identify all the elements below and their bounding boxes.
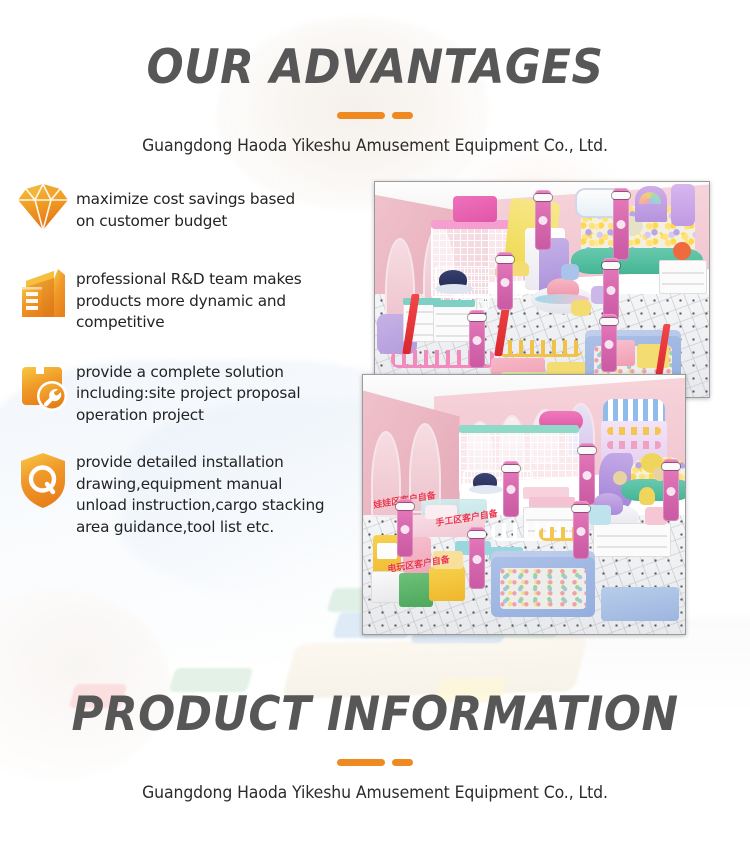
- diamond-icon: [14, 181, 76, 241]
- advantages-list: maximize cost savings based on customer …: [14, 181, 386, 562]
- shield-quality-icon: [14, 450, 76, 510]
- building-growth-icon: [14, 265, 76, 325]
- advantage-item-cost-savings: maximize cost savings based on customer …: [14, 181, 386, 241]
- footer-divider-dash-short: [392, 759, 413, 766]
- footer-divider: [0, 759, 750, 766]
- package-wrench-icon: [14, 358, 76, 418]
- divider-dash-short: [392, 112, 413, 119]
- advantage-item-rnd-team: professional R&D team makes products mor…: [14, 265, 386, 334]
- indoor-playground-render-1[interactable]: [374, 181, 710, 398]
- advantage-text: maximize cost savings based on customer …: [76, 181, 295, 232]
- advantage-item-installation-docs: provide detailed installation drawing,eq…: [14, 450, 386, 538]
- advantage-item-complete-solution: provide a complete solution including:si…: [14, 358, 386, 427]
- footer-company-name: Guangdong Haoda Yikeshu Amusement Equipm…: [19, 783, 732, 802]
- title-divider: [0, 112, 750, 119]
- page-title: OUR ADVANTAGES: [26, 40, 724, 95]
- advantage-text: provide a complete solution including:si…: [76, 358, 300, 427]
- divider-dash-long: [337, 112, 385, 119]
- advantage-text: professional R&D team makes products mor…: [76, 265, 302, 334]
- footer-title: PRODUCT INFORMATION: [26, 687, 724, 742]
- advantage-text: provide detailed installation drawing,eq…: [76, 450, 324, 538]
- advantages-header: OUR ADVANTAGES Guangdong Haoda Yikeshu A…: [0, 0, 750, 155]
- company-name-subtitle: Guangdong Haoda Yikeshu Amusement Equipm…: [19, 136, 732, 155]
- indoor-playground-render-2[interactable]: 娃娃区客户自备 手工区客户自备 电玩区客户自备: [362, 374, 686, 635]
- footer-divider-dash-long: [337, 759, 385, 766]
- advantages-body: maximize cost savings based on customer …: [0, 181, 750, 651]
- product-information-header: PRODUCT INFORMATION Guangdong Haoda Yike…: [0, 651, 750, 802]
